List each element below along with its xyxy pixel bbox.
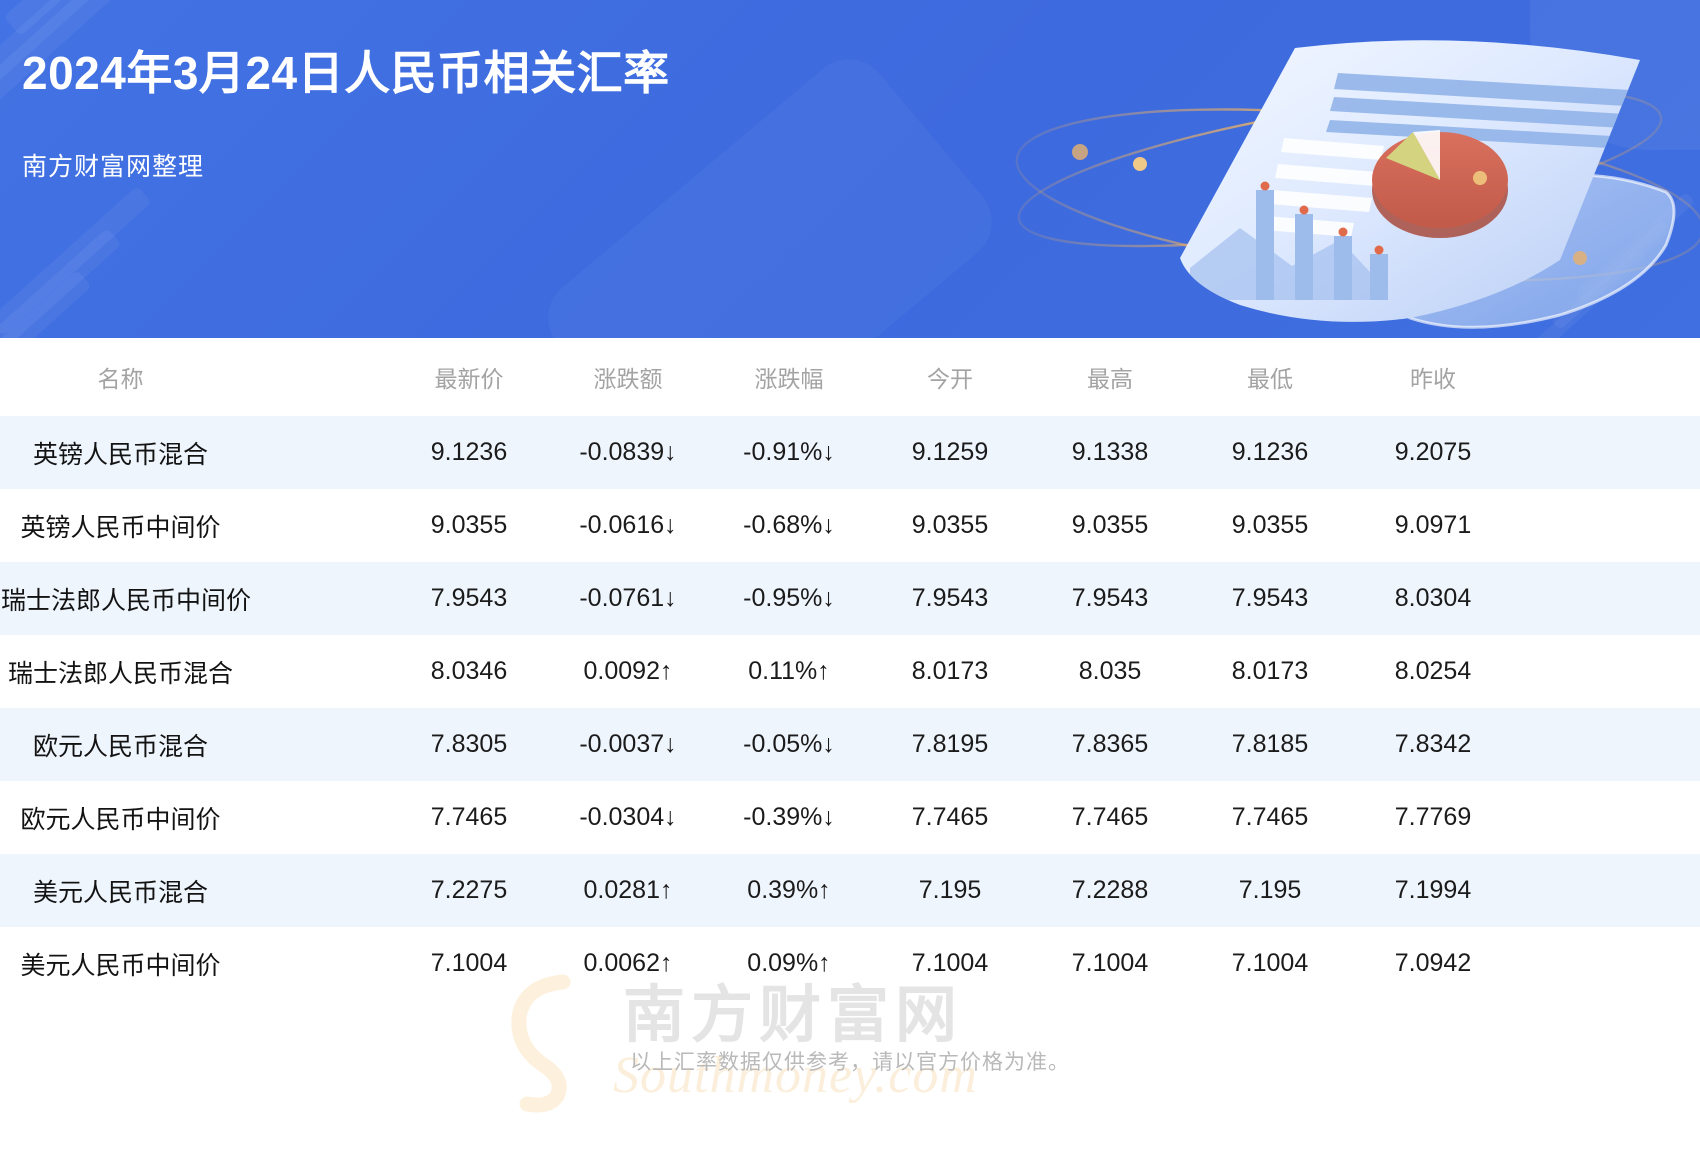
cell-name: 欧元人民币混合 [0, 708, 390, 781]
cell-open: 7.9543 [870, 562, 1030, 635]
cell-low: 7.9543 [1190, 562, 1350, 635]
table-row[interactable]: 美元人民币中间价7.10040.0062↑0.09%↑7.10047.10047… [0, 927, 1700, 1000]
cell-change-percent: -0.39%↓ [708, 781, 870, 854]
cell-change-percent: 0.11%↑ [708, 635, 870, 708]
cell-high: 7.1004 [1030, 927, 1190, 1000]
column-header-name[interactable]: 名称 [0, 338, 390, 416]
column-header-open[interactable]: 今开 [870, 338, 1030, 416]
cell-prev-close: 9.0971 [1350, 489, 1700, 562]
cell-change-percent: -0.95%↓ [708, 562, 870, 635]
cell-change-percent: -0.05%↓ [708, 708, 870, 781]
cell-change: -0.0616↓ [548, 489, 708, 562]
cell-name: 瑞士法郎人民币混合 [0, 635, 390, 708]
cell-low: 8.0173 [1190, 635, 1350, 708]
table-row[interactable]: 欧元人民币混合7.8305-0.0037↓-0.05%↓7.81957.8365… [0, 708, 1700, 781]
column-header-change-pct[interactable]: 涨跌幅 [708, 338, 870, 416]
cell-change: -0.0304↓ [548, 781, 708, 854]
table-row[interactable]: 美元人民币混合7.22750.0281↑0.39%↑7.1957.22887.1… [0, 854, 1700, 927]
page-title: 2024年3月24日人民币相关汇率 [22, 48, 670, 99]
cell-last-price: 7.2275 [390, 854, 548, 927]
cell-low: 9.1236 [1190, 416, 1350, 489]
cell-change: 0.0092↑ [548, 635, 708, 708]
cell-open: 8.0173 [870, 635, 1030, 708]
cell-high: 7.9543 [1030, 562, 1190, 635]
cell-name: 欧元人民币中间价 [0, 781, 390, 854]
cell-name: 英镑人民币混合 [0, 416, 390, 489]
page-subtitle: 南方财富网整理 [22, 147, 670, 183]
cell-high: 7.7465 [1030, 781, 1190, 854]
table-row[interactable]: 英镑人民币中间价9.0355-0.0616↓-0.68%↓9.03559.035… [0, 489, 1700, 562]
cell-change-percent: 0.09%↑ [708, 927, 870, 1000]
cell-change: 0.0281↑ [548, 854, 708, 927]
cell-prev-close: 7.7769 [1350, 781, 1700, 854]
financial-report-illustration [940, 0, 1700, 338]
cell-prev-close: 7.1994 [1350, 854, 1700, 927]
cell-prev-close: 7.0942 [1350, 927, 1700, 1000]
exchange-rates-table: 名称 最新价 涨跌额 涨跌幅 今开 最高 最低 昨收 英镑人民币混合9.1236… [0, 338, 1700, 1000]
page-header: 2024年3月24日人民币相关汇率 南方财富网整理 [0, 0, 1700, 338]
column-header-low[interactable]: 最低 [1190, 338, 1350, 416]
cell-name: 美元人民币中间价 [0, 927, 390, 1000]
cell-high: 9.0355 [1030, 489, 1190, 562]
table-row[interactable]: 瑞士法郎人民币中间价7.9543-0.0761↓-0.95%↓7.95437.9… [0, 562, 1700, 635]
column-header-last[interactable]: 最新价 [390, 338, 548, 416]
cell-open: 9.0355 [870, 489, 1030, 562]
column-header-high[interactable]: 最高 [1030, 338, 1190, 416]
cell-prev-close: 8.0304 [1350, 562, 1700, 635]
cell-open: 7.195 [870, 854, 1030, 927]
rates-table-container: 南方财富网 Southmoney.com 名称 最新价 涨跌额 涨跌幅 今开 最… [0, 338, 1700, 1076]
cell-high: 8.035 [1030, 635, 1190, 708]
table-row[interactable]: 瑞士法郎人民币混合8.03460.0092↑0.11%↑8.01738.0358… [0, 635, 1700, 708]
cell-low: 7.195 [1190, 854, 1350, 927]
cell-low: 7.7465 [1190, 781, 1350, 854]
cell-last-price: 8.0346 [390, 635, 548, 708]
cell-high: 7.2288 [1030, 854, 1190, 927]
cell-change: -0.0037↓ [548, 708, 708, 781]
cell-name: 瑞士法郎人民币中间价 [0, 562, 390, 635]
cell-open: 7.1004 [870, 927, 1030, 1000]
disclaimer-note: 以上汇率数据仅供参考，请以官方价格为准。 [0, 1000, 1700, 1076]
cell-name: 美元人民币混合 [0, 854, 390, 927]
cell-change-percent: -0.68%↓ [708, 489, 870, 562]
decorative-stripes-bottom-left [0, 250, 240, 338]
column-header-prev-close[interactable]: 昨收 [1350, 338, 1700, 416]
cell-low: 7.8185 [1190, 708, 1350, 781]
cell-change: -0.0761↓ [548, 562, 708, 635]
pie-chart-graphic [1372, 130, 1508, 238]
cell-prev-close: 8.0254 [1350, 635, 1700, 708]
table-header-row: 名称 最新价 涨跌额 涨跌幅 今开 最高 最低 昨收 [0, 338, 1700, 416]
cell-prev-close: 9.2075 [1350, 416, 1700, 489]
cell-last-price: 7.1004 [390, 927, 548, 1000]
cell-prev-close: 7.8342 [1350, 708, 1700, 781]
exchange-rate-page: 2024年3月24日人民币相关汇率 南方财富网整理 [0, 0, 1700, 1150]
cell-change-percent: -0.91%↓ [708, 416, 870, 489]
cell-last-price: 7.8305 [390, 708, 548, 781]
cell-last-price: 7.7465 [390, 781, 548, 854]
cell-open: 9.1259 [870, 416, 1030, 489]
cell-open: 7.8195 [870, 708, 1030, 781]
cell-low: 9.0355 [1190, 489, 1350, 562]
table-row[interactable]: 欧元人民币中间价7.7465-0.0304↓-0.39%↓7.74657.746… [0, 781, 1700, 854]
cell-open: 7.7465 [870, 781, 1030, 854]
cell-high: 9.1338 [1030, 416, 1190, 489]
header-text-block: 2024年3月24日人民币相关汇率 南方财富网整理 [22, 48, 670, 183]
column-header-change[interactable]: 涨跌额 [548, 338, 708, 416]
cell-high: 7.8365 [1030, 708, 1190, 781]
table-header: 名称 最新价 涨跌额 涨跌幅 今开 最高 最低 昨收 [0, 338, 1700, 416]
cell-change-percent: 0.39%↑ [708, 854, 870, 927]
cell-last-price: 9.1236 [390, 416, 548, 489]
cell-last-price: 9.0355 [390, 489, 548, 562]
cell-change: -0.0839↓ [548, 416, 708, 489]
table-body: 英镑人民币混合9.1236-0.0839↓-0.91%↓9.12599.1338… [0, 416, 1700, 1000]
cell-name: 英镑人民币中间价 [0, 489, 390, 562]
cell-low: 7.1004 [1190, 927, 1350, 1000]
cell-last-price: 7.9543 [390, 562, 548, 635]
cell-change: 0.0062↑ [548, 927, 708, 1000]
table-row[interactable]: 英镑人民币混合9.1236-0.0839↓-0.91%↓9.12599.1338… [0, 416, 1700, 489]
